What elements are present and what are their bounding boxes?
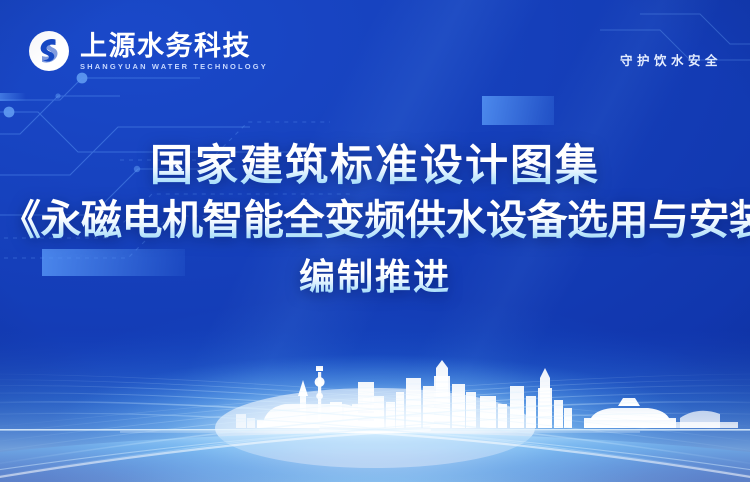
company-name-cn: 上源水务科技 bbox=[80, 32, 268, 61]
poster-title: 国家建筑标准设计图集 《永磁电机智能全变频供水设备选用与安装》 编制推进 bbox=[0, 142, 750, 298]
highlight-block-top-left bbox=[0, 93, 26, 101]
brand-tagline: 守护饮水安全 bbox=[620, 50, 722, 69]
brand-logo: 上源水务科技 SHANGYUAN WATER TECHNOLOGY bbox=[28, 30, 268, 72]
shangyuan-circular-wave-logo-icon bbox=[28, 30, 70, 72]
brand-logo-text: 上源水务科技 SHANGYUAN WATER TECHNOLOGY bbox=[80, 31, 268, 72]
poster-canvas: 上源水务科技 SHANGYUAN WATER TECHNOLOGY 守护饮水安全… bbox=[0, 0, 750, 482]
page-title-line-1: 国家建筑标准设计图集 bbox=[0, 142, 750, 190]
page-title-line-2: 《永磁电机智能全变频供水设备选用与安装》 bbox=[0, 195, 750, 245]
page-title-line-3: 编制推进 bbox=[0, 255, 750, 298]
poster-header: 上源水务科技 SHANGYUAN WATER TECHNOLOGY 守护饮水安全 bbox=[0, 0, 750, 92]
highlight-block-top-right bbox=[482, 96, 554, 125]
company-name-en: SHANGYUAN WATER TECHNOLOGY bbox=[80, 63, 268, 71]
